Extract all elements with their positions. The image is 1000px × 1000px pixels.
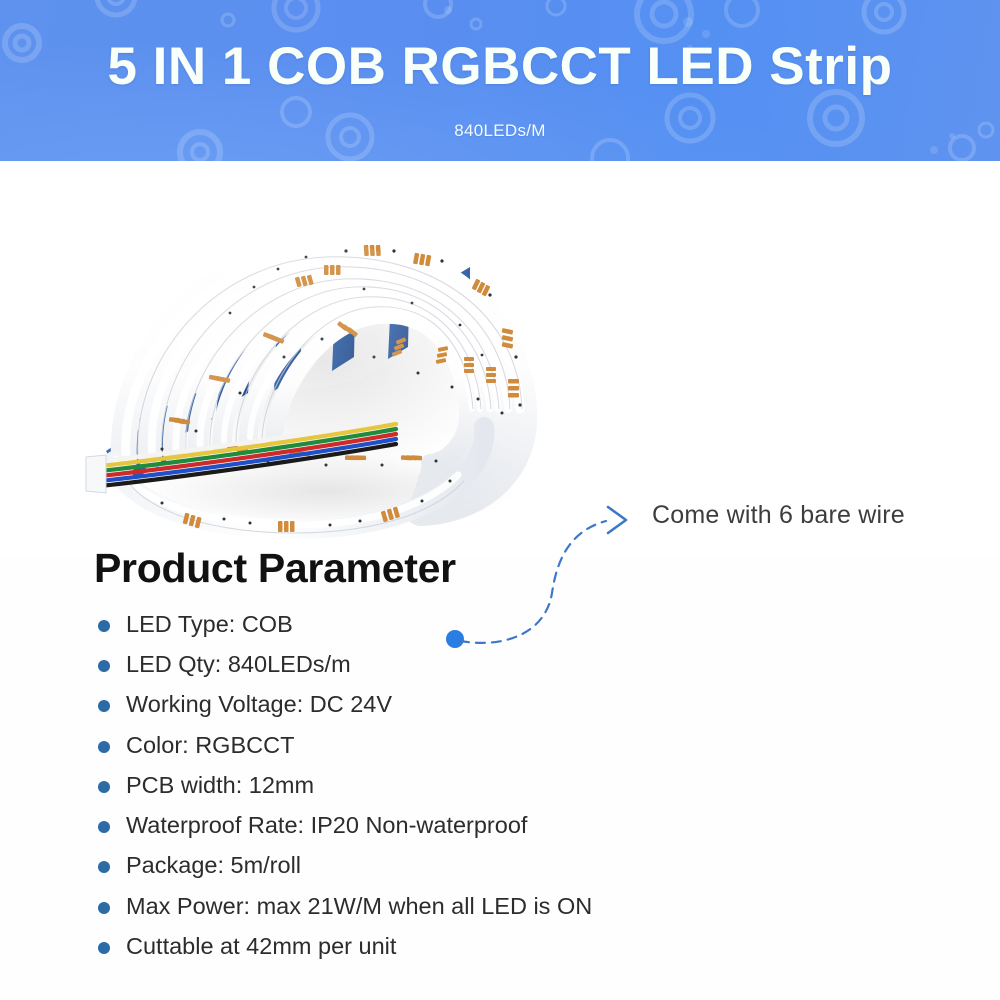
- bullet-icon: [98, 741, 110, 753]
- parameter-text: Package: 5m/roll: [126, 852, 301, 878]
- list-item: Waterproof Rate: IP20 Non-waterproof: [96, 812, 1000, 840]
- parameter-text: PCB width: 12mm: [126, 772, 314, 798]
- parameter-text: Max Power: max 21W/M when all LED is ON: [126, 893, 592, 919]
- list-item: Package: 5m/roll: [96, 852, 1000, 880]
- parameter-text: LED Qty: 840LEDs/m: [126, 651, 351, 677]
- parameter-text: Cuttable at 42mm per unit: [126, 933, 396, 959]
- product-parameter-section: Product Parameter LED Type: COB LED Qty:…: [0, 548, 1000, 973]
- led-strip-coil-photo: [78, 161, 598, 541]
- list-item: LED Qty: 840LEDs/m: [96, 651, 1000, 679]
- bullet-icon: [98, 861, 110, 873]
- bullet-icon: [98, 620, 110, 632]
- list-item: PCB width: 12mm: [96, 772, 1000, 800]
- list-item: LED Type: COB: [96, 611, 1000, 639]
- list-item: Cuttable at 42mm per unit: [96, 933, 1000, 961]
- bullet-icon: [98, 902, 110, 914]
- bullet-icon: [98, 942, 110, 954]
- parameter-text: Color: RGBCCT: [126, 732, 294, 758]
- page-subtitle: 840LEDs/M: [0, 121, 1000, 141]
- bullet-icon: [98, 660, 110, 672]
- product-image-section: Come with 6 bare wire: [0, 161, 1000, 556]
- product-detail-page: 5 IN 1 COB RGBCCT LED Strip 840LEDs/M: [0, 0, 1000, 1000]
- parameter-list: LED Type: COB LED Qty: 840LEDs/m Working…: [0, 611, 1000, 960]
- list-item: Working Voltage: DC 24V: [96, 691, 1000, 719]
- bullet-icon: [98, 821, 110, 833]
- page-title: 5 IN 1 COB RGBCCT LED Strip: [0, 36, 1000, 97]
- header-banner: 5 IN 1 COB RGBCCT LED Strip 840LEDs/M: [0, 0, 1000, 161]
- parameter-text: LED Type: COB: [126, 611, 293, 637]
- callout-label: Come with 6 bare wire: [652, 501, 905, 530]
- bullet-icon: [98, 700, 110, 712]
- list-item: Color: RGBCCT: [96, 732, 1000, 760]
- parameter-text: Working Voltage: DC 24V: [126, 691, 392, 717]
- section-heading: Product Parameter: [94, 548, 1000, 589]
- list-item: Max Power: max 21W/M when all LED is ON: [96, 893, 1000, 921]
- bullet-icon: [98, 781, 110, 793]
- arrow-head-icon: [608, 507, 626, 533]
- parameter-text: Waterproof Rate: IP20 Non-waterproof: [126, 812, 527, 838]
